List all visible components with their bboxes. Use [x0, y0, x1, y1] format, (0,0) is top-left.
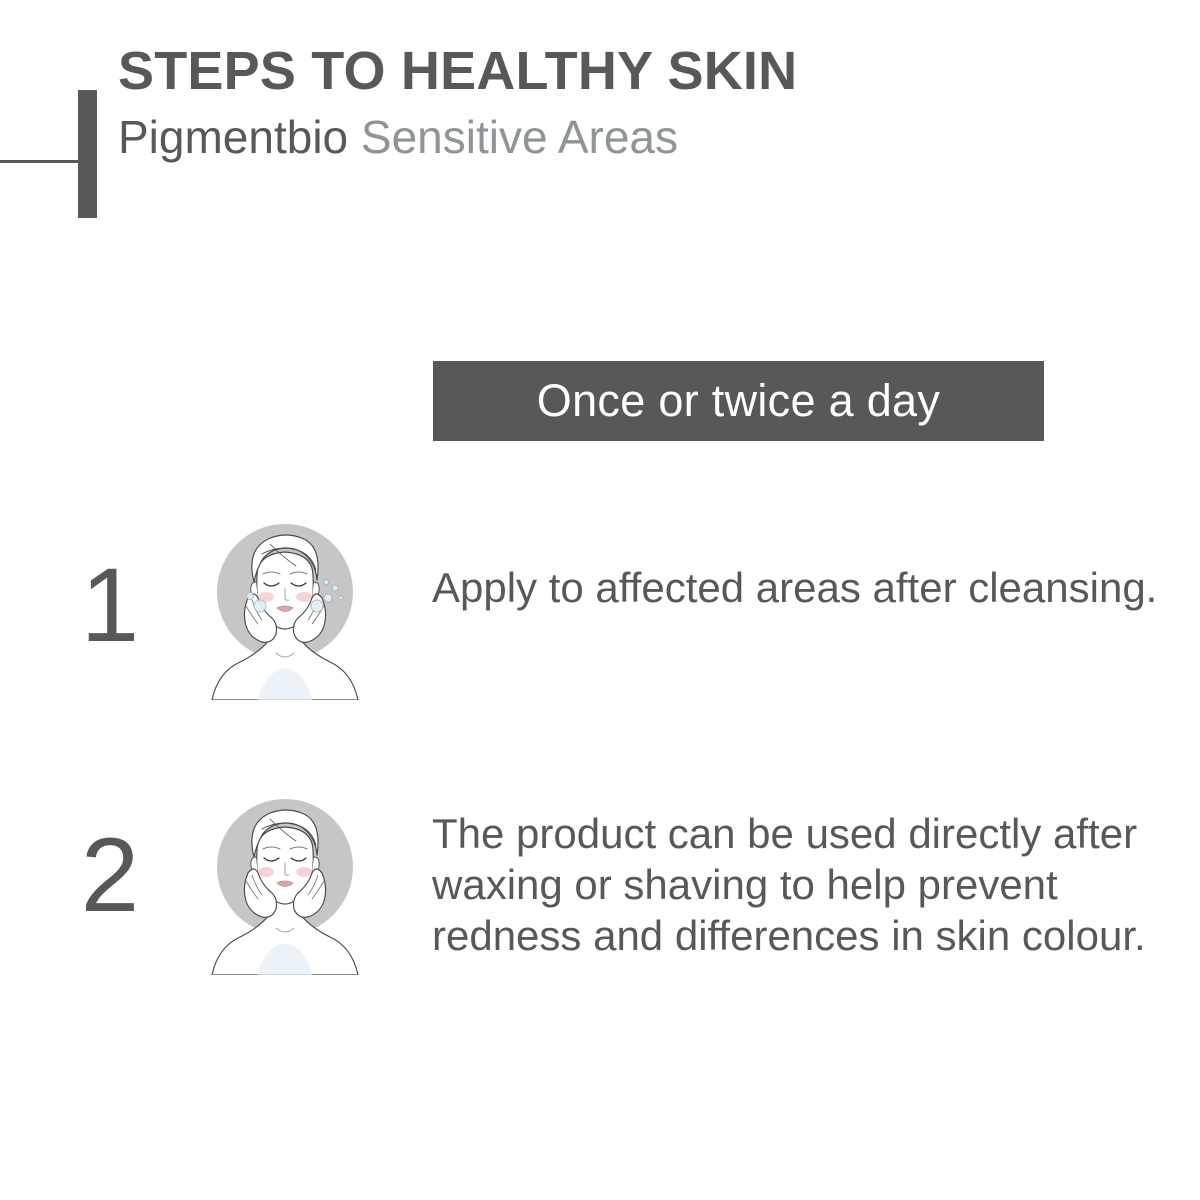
frequency-banner: Once or twice a day: [433, 361, 1044, 441]
frequency-banner-label: Once or twice a day: [537, 375, 940, 427]
logo-vertical-bar: [78, 90, 97, 218]
brand-bracket-icon: [0, 44, 110, 194]
step-item: 2: [0, 790, 1200, 1020]
step-description: Apply to affected areas after cleansing.: [432, 562, 1162, 613]
page-header: STEPS TO HEALTHY SKIN Pigmentbio Sensiti…: [0, 44, 1200, 194]
page-subtitle: Pigmentbio Sensitive Areas: [118, 114, 797, 160]
step-item: 1: [0, 520, 1200, 720]
woman-applying-product-icon: [200, 795, 370, 975]
subtitle-spacer: [348, 111, 361, 163]
page-title: STEPS TO HEALTHY SKIN: [118, 44, 797, 98]
step-number: 1: [55, 553, 165, 658]
header-text-block: STEPS TO HEALTHY SKIN Pigmentbio Sensiti…: [118, 44, 797, 160]
subtitle-range: Sensitive Areas: [361, 111, 678, 163]
step-number: 2: [55, 823, 165, 928]
step-illustration: [200, 520, 370, 700]
step-illustration: [200, 795, 370, 975]
subtitle-brand: Pigmentbio: [118, 111, 348, 163]
logo-horizontal-rule: [0, 160, 80, 163]
woman-applying-product-icon: [200, 520, 370, 700]
step-description: The product can be used directly after w…: [432, 808, 1162, 962]
